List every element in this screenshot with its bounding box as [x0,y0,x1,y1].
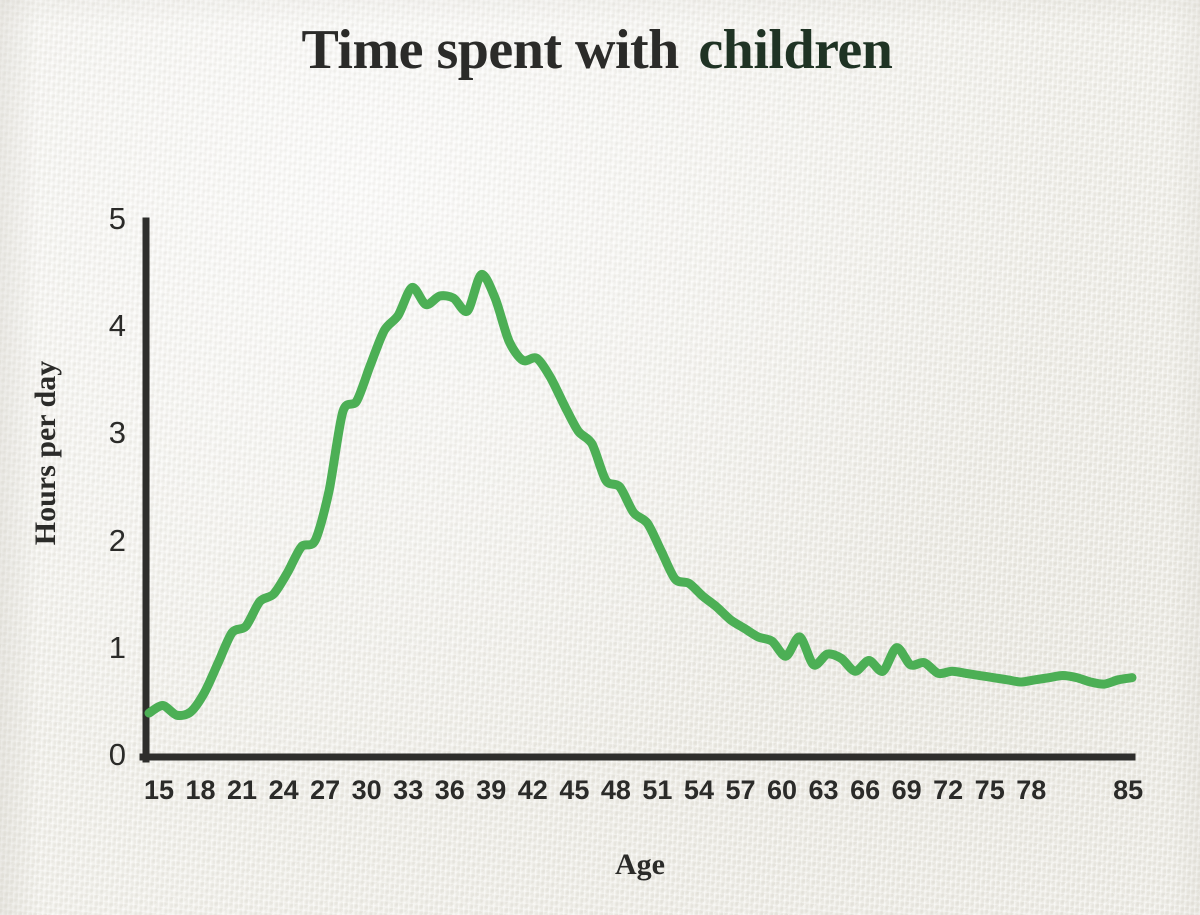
y-tick-label-0: 0 [82,737,126,773]
y-tick-label-2: 2 [82,523,126,559]
chart-figure: Time spent with children Hours per day A… [0,0,1200,915]
y-tick-label-1: 1 [82,630,126,666]
data-line-series-hours-per-day [149,274,1132,715]
plot-area: 012345 151821242730333639424548515457606… [0,0,1200,915]
y-tick-label-3: 3 [82,415,126,451]
y-tick-label-5: 5 [82,201,126,237]
y-tick-label-4: 4 [82,308,126,344]
x-tick-label-85: 85 [1101,775,1155,806]
x-tick-label-78: 78 [1004,775,1058,806]
